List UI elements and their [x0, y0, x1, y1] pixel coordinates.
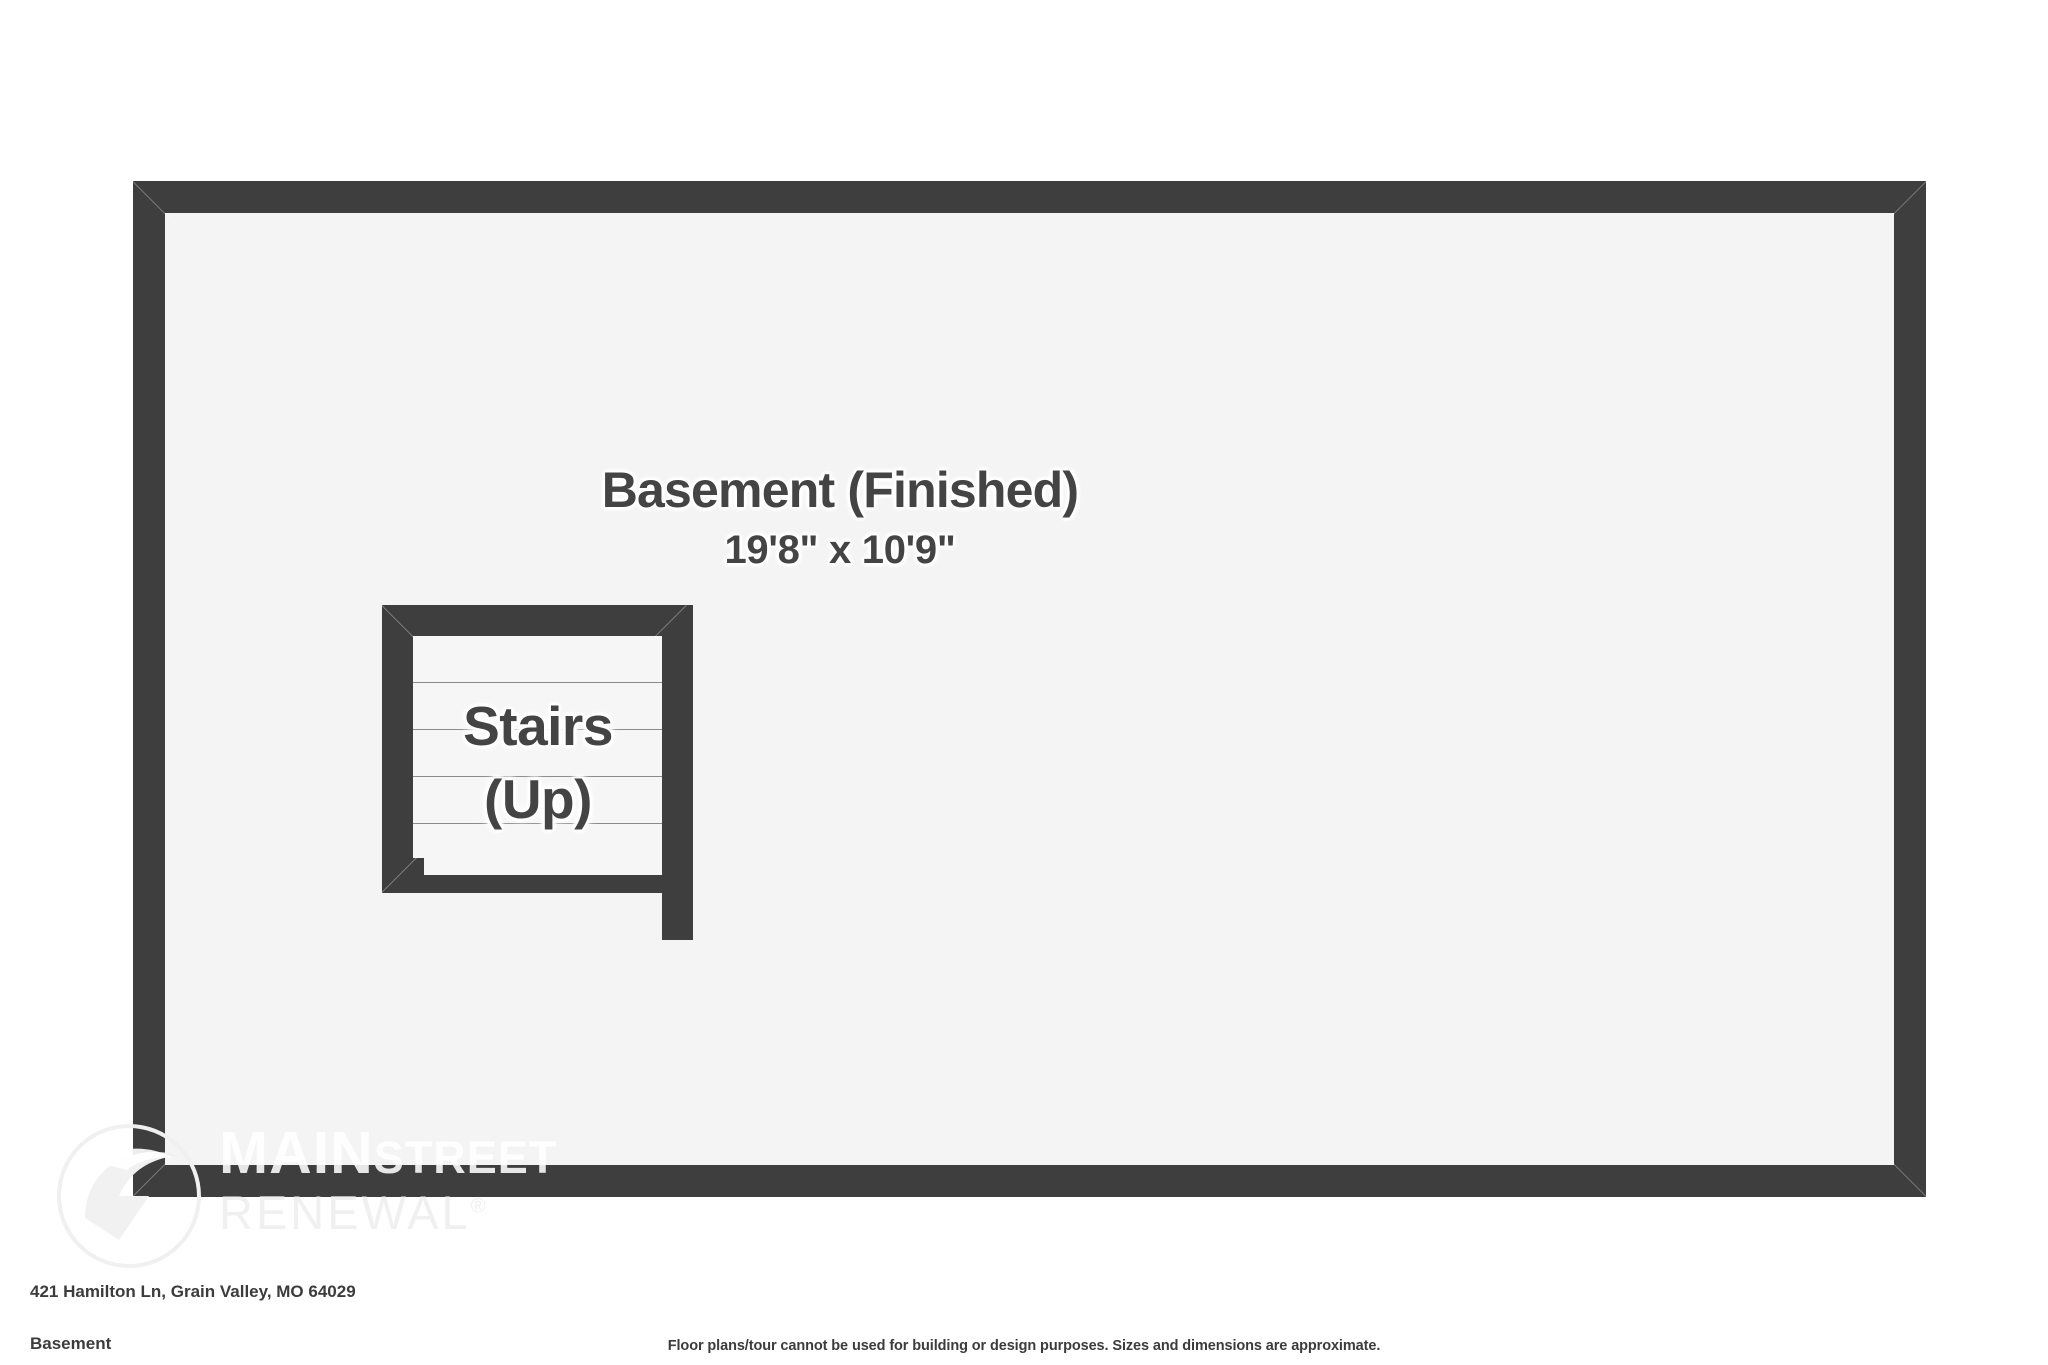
stairs-structure: [373, 605, 720, 940]
floorplan-page: Stairs (Up) Basement (Finished) 19'8" x …: [0, 0, 2048, 1365]
stair-step-line: [413, 776, 662, 777]
disclaimer-text: Floor plans/tour cannot be used for buil…: [0, 1338, 2048, 1354]
stair-step-line: [413, 729, 662, 730]
stairs-floor: [413, 636, 662, 875]
stair-step-line: [413, 682, 662, 683]
stairs-wall-bottom: [413, 875, 693, 893]
property-address: 421 Hamilton Ln, Grain Valley, MO 64029: [30, 1282, 356, 1302]
stairs-wall-top: [382, 605, 693, 636]
stair-step-line: [413, 823, 662, 824]
stairs-wall-left: [382, 605, 413, 893]
stairs-corner-post: [382, 858, 424, 893]
